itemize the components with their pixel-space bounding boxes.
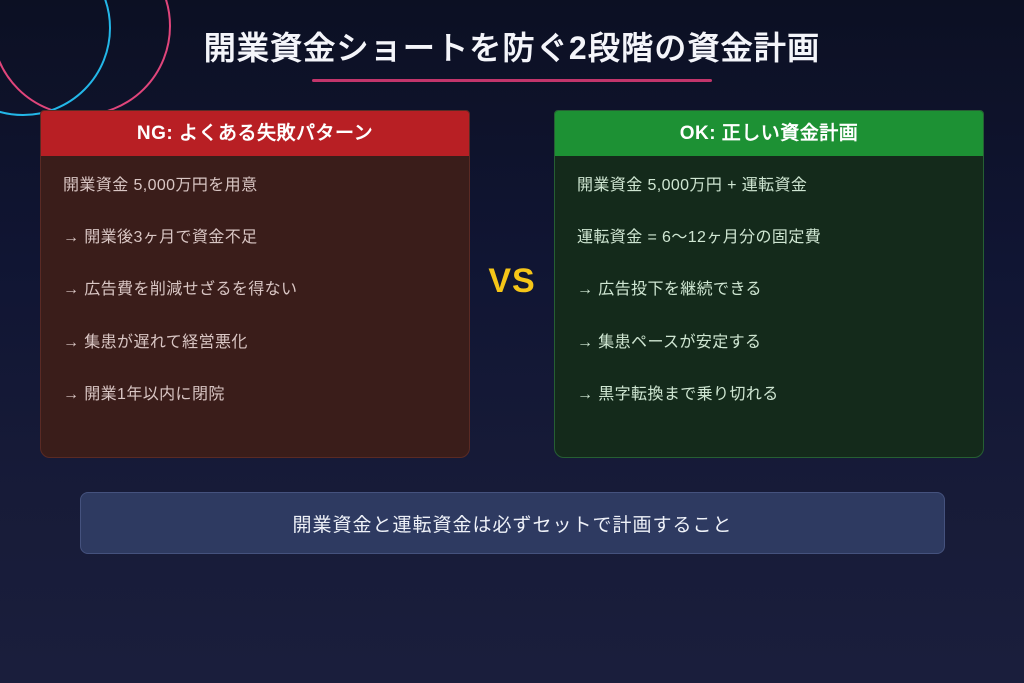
list-item: → 黒字転換まで乗り切れる [577,383,961,406]
list-item: → 集患が遅れて経営悪化 [63,331,447,354]
slide-canvas: 開業資金ショートを防ぐ2段階の資金計画 NG: よくある失敗パターン 開業資金 … [0,0,1024,683]
card-ng-header: NG: よくある失敗パターン [41,111,469,156]
conclusion-banner-text: 開業資金と運転資金は必ずセットで計画すること [292,510,732,537]
list-item: 運転資金 = 6〜12ヶ月分の固定費 [577,226,961,249]
title-underline-rule [312,79,712,82]
list-item: → 開業後3ヶ月で資金不足 [63,226,447,249]
card-ng-body: 開業資金 5,000万円を用意 → 開業後3ヶ月で資金不足 → 広告費を削減せざ… [41,156,469,406]
card-ok: OK: 正しい資金計画 開業資金 5,000万円 + 運転資金 運転資金 = 6… [554,110,984,458]
page-title: 開業資金ショートを防ぐ2段階の資金計画 [204,28,821,68]
list-item: 開業資金 5,000万円 + 運転資金 [577,174,961,197]
conclusion-banner: 開業資金と運転資金は必ずセットで計画すること [80,492,945,554]
title-block: 開業資金ショートを防ぐ2段階の資金計画 [0,28,1024,82]
card-ng: NG: よくある失敗パターン 開業資金 5,000万円を用意 → 開業後3ヶ月で… [40,110,470,458]
list-item: → 集患ペースが安定する [577,331,961,354]
card-ok-header: OK: 正しい資金計画 [555,111,983,156]
list-item: → 広告投下を継続できる [577,278,961,301]
list-item: → 広告費を削減せざるを得ない [63,278,447,301]
list-item: → 開業1年以内に閉院 [63,383,447,406]
card-ok-body: 開業資金 5,000万円 + 運転資金 運転資金 = 6〜12ヶ月分の固定費 →… [555,156,983,406]
list-item: 開業資金 5,000万円を用意 [63,174,447,197]
vs-badge: VS [470,264,554,298]
